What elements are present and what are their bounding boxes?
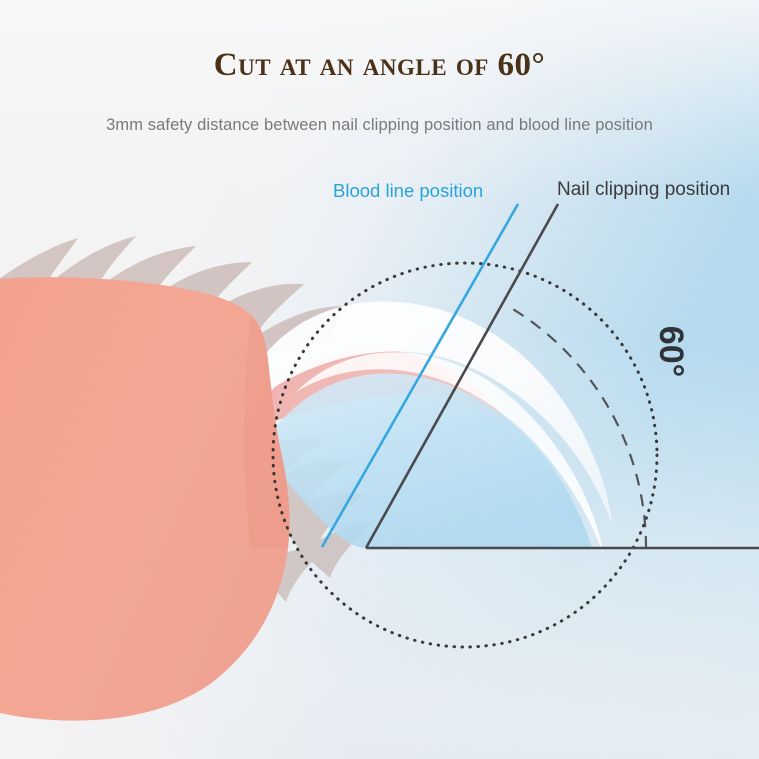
- blood-line-position-label: Blood line position: [333, 180, 483, 202]
- page-title: Cut at an angle of 60°: [0, 47, 759, 84]
- angle-value-label: 60°: [651, 326, 690, 377]
- paw-icon: [0, 277, 290, 721]
- nail-clipping-position-label: Nail clipping position: [557, 179, 730, 201]
- diagram-artwork: [0, 0, 759, 759]
- page-subtitle: 3mm safety distance between nail clippin…: [0, 116, 759, 135]
- illustration-canvas: Cut at an angle of 60° 3mm safety distan…: [0, 0, 759, 759]
